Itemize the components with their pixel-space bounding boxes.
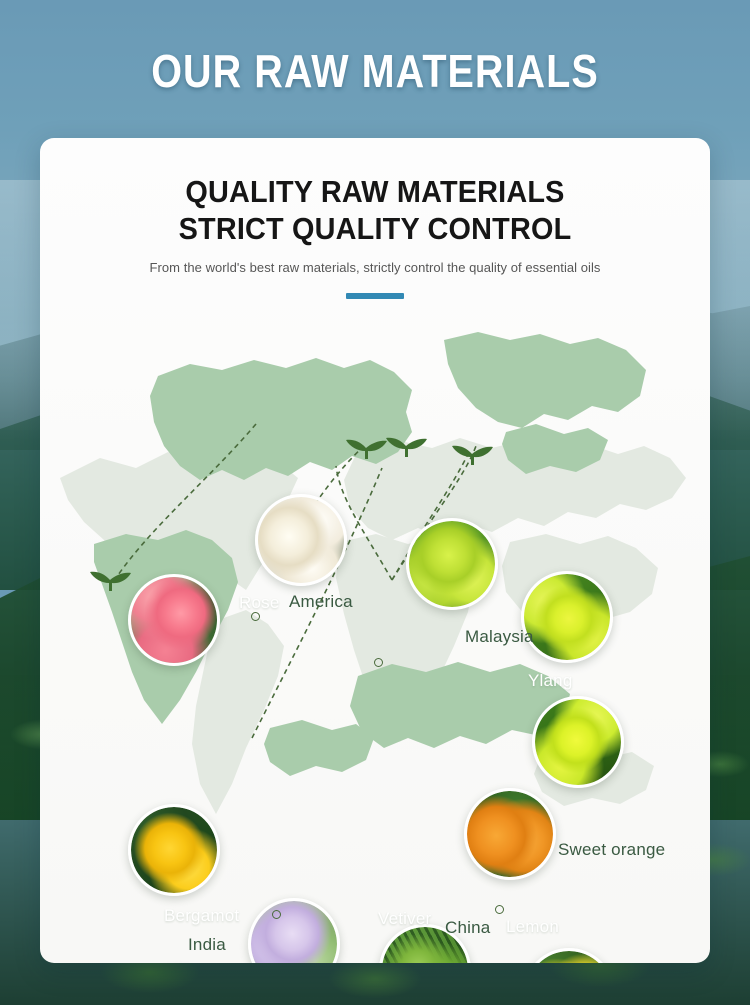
- photo-circle-pink-rose[interactable]: [128, 574, 220, 666]
- world-map-area: .cont { fill:#a9ccab; } .faint { fill:#e…: [40, 328, 710, 963]
- photo-circle-ylang-3[interactable]: [532, 696, 624, 788]
- map-node-india[interactable]: [272, 910, 281, 919]
- photo-circle-ylang-1[interactable]: [406, 518, 498, 610]
- map-label-america: America: [289, 592, 353, 612]
- map-label-india: India: [188, 935, 226, 955]
- photo-circle-sweet-orange[interactable]: [464, 788, 556, 880]
- ylang-ylang-flower-photo: [524, 574, 610, 660]
- map-label-vetiver: Vetiver: [378, 909, 431, 929]
- photo-circle-white-rose[interactable]: [255, 494, 347, 586]
- map-label-sweet-orange: Sweet orange: [558, 840, 665, 860]
- map-label-malaysia: Malaysia: [465, 627, 534, 647]
- map-label-bergamot: Bergamot: [164, 906, 239, 926]
- ylang-ylang-flower-photo: [535, 699, 621, 785]
- bergamot-fruit-photo: [131, 807, 217, 893]
- ylang-ylang-flower-photo: [409, 521, 495, 607]
- pink-roses-photo: [131, 577, 217, 663]
- card-subtitle: From the world's best raw materials, str…: [40, 260, 710, 275]
- map-label-ylang: Ylang: [528, 671, 572, 691]
- map-node-china[interactable]: [495, 905, 504, 914]
- map-label-lemon: Lemon: [506, 917, 559, 937]
- accent-divider: [346, 293, 404, 299]
- content-card: QUALITY RAW MATERIALS STRICT QUALITY CON…: [40, 138, 710, 963]
- map-node-america[interactable]: [251, 612, 260, 621]
- white-roses-photo: [258, 497, 344, 583]
- map-label-china: China: [445, 918, 490, 938]
- card-heading: QUALITY RAW MATERIALS STRICT QUALITY CON…: [63, 174, 686, 247]
- card-heading-line-2: STRICT QUALITY CONTROL: [63, 211, 686, 248]
- map-label-rose: Rose: [239, 593, 280, 613]
- card-heading-line-1: QUALITY RAW MATERIALS: [63, 174, 686, 211]
- photo-circle-ylang-2[interactable]: [521, 571, 613, 663]
- lilac-flower-photo: [251, 901, 337, 963]
- sweet-orange-fruit-photo: [467, 791, 553, 877]
- photo-circle-bergamot[interactable]: [128, 804, 220, 896]
- card-header: QUALITY RAW MATERIALS STRICT QUALITY CON…: [40, 138, 710, 299]
- map-node-malaysia[interactable]: [374, 658, 383, 667]
- page-title: OUR RAW MATERIALS: [53, 44, 698, 98]
